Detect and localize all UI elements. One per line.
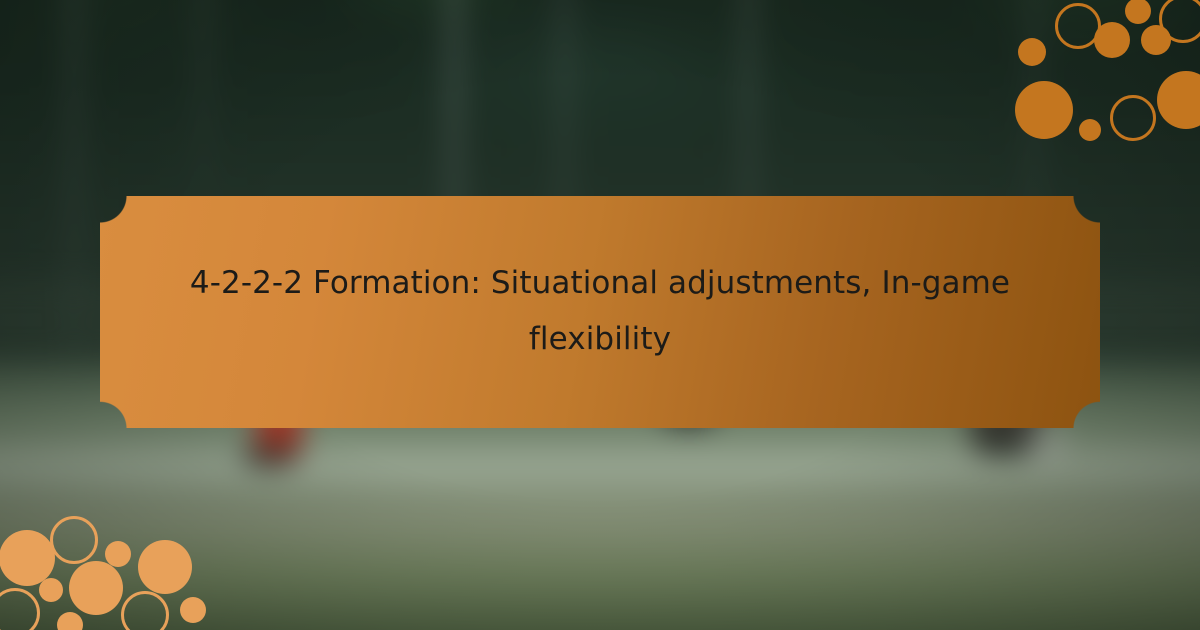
decoration-dot-filled (1125, 0, 1151, 24)
banner-title-text: 4-2-2-2 Formation: Situational adjustmen… (170, 256, 1030, 368)
decoration-dot-filled (1018, 38, 1046, 66)
share-card: 4-2-2-2 Formation: Situational adjustmen… (0, 0, 1200, 630)
decoration-dot-filled (1094, 22, 1130, 58)
decoration-dot-filled (180, 597, 206, 623)
decoration-ring (121, 591, 169, 630)
decoration-circles-bottom-left (0, 510, 230, 630)
decoration-dot-filled (39, 578, 63, 602)
decoration-ring (50, 516, 98, 564)
decoration-dot-filled (105, 541, 131, 567)
decoration-dot-filled (69, 561, 123, 615)
decoration-ring (0, 588, 40, 630)
decoration-dot-filled (1015, 81, 1073, 139)
decoration-dot-filled (1079, 119, 1101, 141)
decoration-circles-top-right (1000, 0, 1200, 120)
decoration-dot-filled (57, 612, 83, 630)
decoration-dot-filled (138, 540, 192, 594)
title-banner: 4-2-2-2 Formation: Situational adjustmen… (100, 196, 1100, 428)
decoration-ring (1110, 95, 1156, 141)
banner-title: 4-2-2-2 Formation: Situational adjustmen… (100, 196, 1100, 428)
